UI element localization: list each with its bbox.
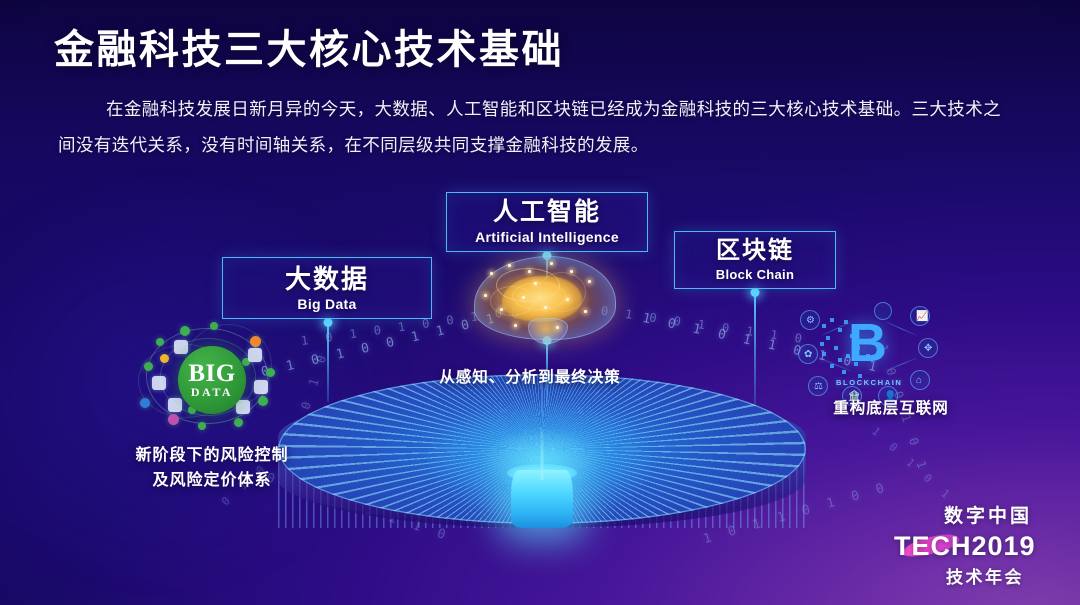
background-vignette: [0, 0, 1080, 605]
slide-canvas: 金融科技三大核心技术基础 在金融科技发展日新月异的今天，大数据、人工智能和区块链…: [0, 0, 1080, 605]
